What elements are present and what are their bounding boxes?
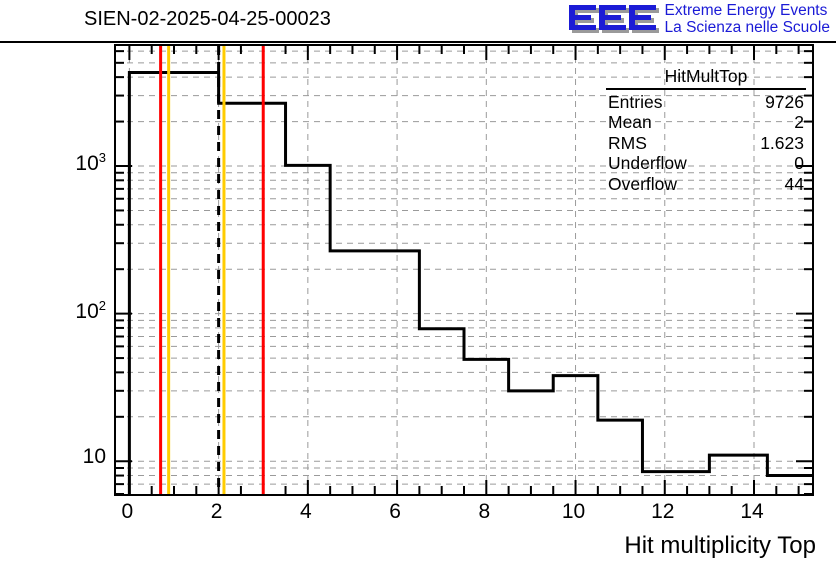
x-tick-label-12: 12 [633, 500, 693, 524]
eee-logo-line1: Extreme Energy Events [665, 3, 830, 20]
stats-value: 2 [794, 112, 804, 132]
x-tick-label-14: 14 [722, 500, 782, 524]
stats-key: Entries [608, 92, 662, 112]
statistics-box: HitMultTop Entries9726Mean2RMS1.623Under… [604, 66, 808, 194]
stats-row-entries: Entries9726 [604, 92, 808, 112]
x-tick-label-8: 8 [454, 500, 514, 524]
y-tick-label-100: 102 [75, 298, 106, 324]
x-tick-label-2: 2 [187, 500, 247, 524]
y-tick-label-1000: 103 [75, 150, 106, 176]
stats-key: RMS [608, 133, 647, 153]
stats-key: Underflow [608, 153, 687, 173]
x-axis-title: Hit multiplicity Top [624, 532, 816, 560]
stats-value: 44 [785, 174, 804, 194]
histogram-canvas: SIEN-02-2025-04-25-00023 Extreme Energy … [0, 0, 836, 572]
y-tick-label-10: 10 [83, 445, 106, 469]
x-tick-label-0: 0 [97, 500, 157, 524]
x-tick-label-4: 4 [276, 500, 336, 524]
stats-value: 0 [794, 153, 804, 173]
stats-row-mean: Mean2 [604, 112, 808, 132]
stats-row-rms: RMS1.623 [604, 133, 808, 153]
stats-key: Overflow [608, 174, 677, 194]
stats-rows: Entries9726Mean2RMS1.623Underflow0Overfl… [604, 92, 808, 194]
header-divider [0, 41, 836, 43]
x-tick-label-6: 6 [365, 500, 425, 524]
stats-value: 1.623 [760, 133, 804, 153]
x-tick-label-10: 10 [544, 500, 604, 524]
stats-title-rule [606, 88, 806, 90]
eee-logo-text: Extreme Energy Events La Scienza nelle S… [665, 2, 830, 36]
stats-value: 9726 [765, 92, 804, 112]
eee-logo-mark [567, 2, 659, 38]
page-title: SIEN-02-2025-04-25-00023 [84, 8, 331, 31]
stats-row-overflow: Overflow44 [604, 174, 808, 194]
stats-key: Mean [608, 112, 652, 132]
stats-title: HitMultTop [604, 66, 808, 88]
eee-logo-line2: La Scienza nelle Scuole [665, 20, 830, 37]
stats-row-underflow: Underflow0 [604, 153, 808, 173]
eee-logo: Extreme Energy Events La Scienza nelle S… [567, 2, 830, 42]
